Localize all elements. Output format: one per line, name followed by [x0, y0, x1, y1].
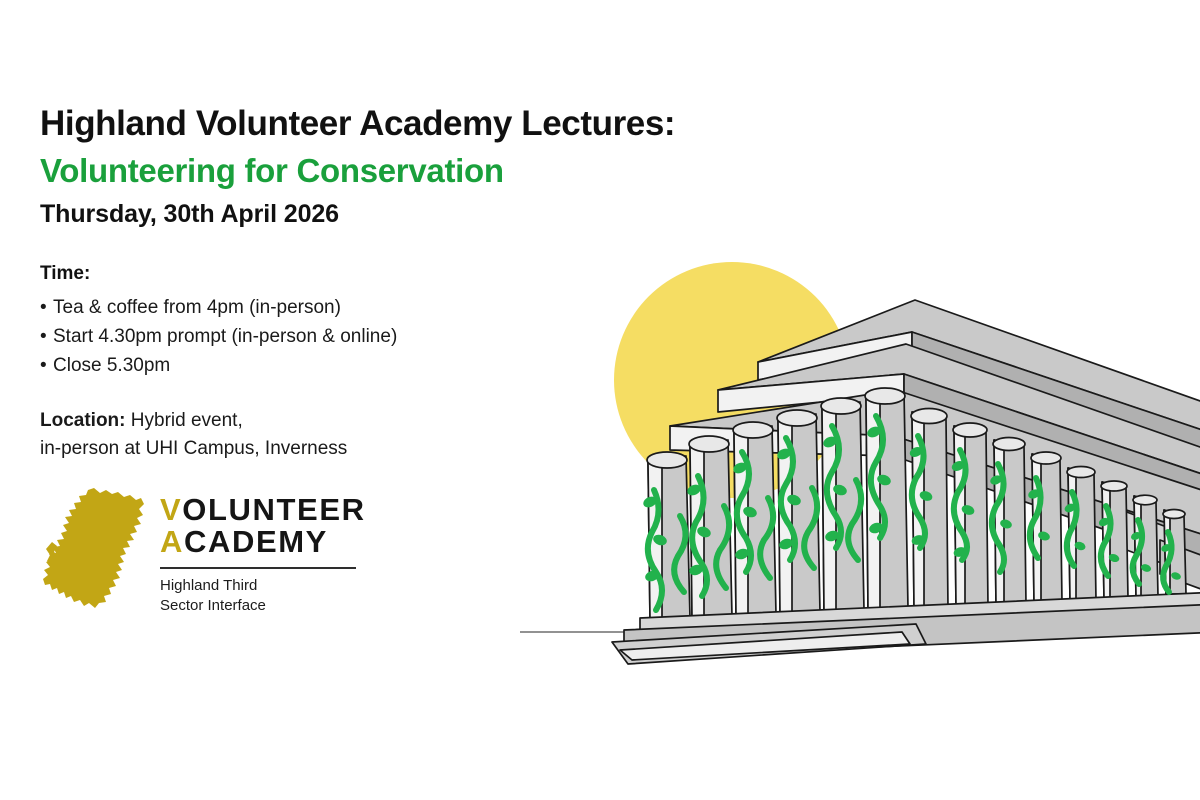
- list-item: •Close 5.30pm: [40, 352, 560, 381]
- column-top: [911, 409, 947, 424]
- temple-svg: [520, 240, 1200, 690]
- logo-cap-a: A: [160, 524, 184, 559]
- column-top: [1133, 495, 1157, 505]
- event-date: Thursday, 30th April 2026: [40, 199, 560, 229]
- column-top: [865, 388, 905, 404]
- logo-tagline-line-1: Highland Third: [160, 576, 366, 596]
- column-top: [821, 398, 861, 414]
- bullet-icon: •: [40, 352, 53, 381]
- list-item: •Start 4.30pm prompt (in-person & online…: [40, 323, 560, 352]
- column-top: [647, 452, 687, 468]
- bullet-icon: •: [40, 294, 53, 323]
- logo-cap-v: V: [160, 492, 182, 527]
- text-content-column: Highland Volunteer Academy Lectures: Vol…: [40, 104, 560, 463]
- bullet-icon: •: [40, 323, 53, 352]
- column-top: [777, 410, 817, 426]
- event-poster: Highland Volunteer Academy Lectures: Vol…: [0, 0, 1200, 800]
- column-top: [993, 438, 1025, 451]
- logo-rest-academy: CADEMY: [184, 524, 328, 559]
- column-top: [733, 422, 773, 438]
- logo-divider: [160, 567, 356, 569]
- logo-rest-volunteer: OLUNTEER: [182, 492, 365, 527]
- logo-wordmark-group: VOLUNTEER ACADEMY Highland Third Sector …: [160, 484, 366, 616]
- column-top: [1067, 467, 1095, 478]
- list-item-label: Tea & coffee from 4pm (in-person): [53, 297, 341, 318]
- volunteer-academy-logo: VOLUNTEER ACADEMY Highland Third Sector …: [40, 484, 366, 616]
- time-section: Time: •Tea & coffee from 4pm (in-person)…: [40, 262, 560, 380]
- column-top: [1101, 481, 1127, 491]
- time-list: •Tea & coffee from 4pm (in-person) •Star…: [40, 294, 560, 381]
- scotland-highland-map-icon: [40, 484, 148, 612]
- page-title: Highland Volunteer Academy Lectures:: [40, 104, 560, 145]
- location-label: Location:: [40, 410, 126, 431]
- logo-word-academy: ACADEMY: [160, 526, 366, 558]
- column-top: [1031, 452, 1061, 464]
- location-line-1: Location: Hybrid event,: [40, 407, 560, 435]
- time-label: Time:: [40, 262, 560, 287]
- column-top: [953, 423, 987, 437]
- page-subtitle: Volunteering for Conservation: [40, 151, 560, 191]
- logo-tagline-line-2: Sector Interface: [160, 596, 366, 616]
- location-section: Location: Hybrid event, in-person at UHI…: [40, 407, 560, 463]
- location-line-2: in-person at UHI Campus, Inverness: [40, 435, 560, 463]
- greek-temple-with-ivy-illustration: [520, 240, 1200, 690]
- list-item: •Tea & coffee from 4pm (in-person): [40, 294, 560, 323]
- column-top: [1163, 510, 1185, 519]
- logo-word-volunteer: VOLUNTEER: [160, 494, 366, 526]
- location-value: Hybrid event,: [131, 410, 243, 431]
- list-item-label: Close 5.30pm: [53, 355, 170, 376]
- list-item-label: Start 4.30pm prompt (in-person & online): [53, 326, 397, 347]
- column-top: [689, 436, 729, 452]
